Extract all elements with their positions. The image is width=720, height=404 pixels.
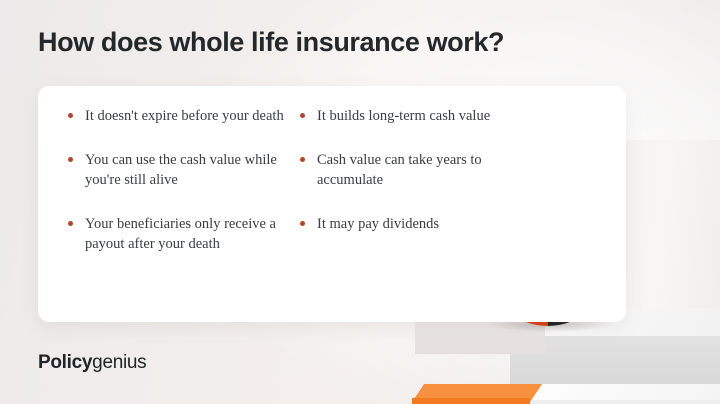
list-item-label: You can use the cash value while you're …: [85, 152, 277, 189]
bullet-dot-icon: [300, 157, 305, 162]
left-bullet-list: It doesn't expire before your death You …: [66, 106, 298, 255]
list-item-label: Cash value can take years to accumulate: [317, 152, 482, 189]
list-item: It doesn't expire before your death: [66, 106, 298, 127]
slide-canvas: How does whole life insurance work? It d…: [0, 0, 720, 404]
list-item-label: It doesn't expire before your death: [85, 108, 284, 124]
list-item: It may pay dividends: [298, 214, 508, 235]
brand-logo: Policygenius: [38, 352, 146, 374]
left-column: It doesn't expire before your death You …: [66, 106, 298, 322]
list-item: It builds long-term cash value: [298, 106, 508, 127]
list-item-label: It may pay dividends: [317, 216, 439, 232]
content-card: It doesn't expire before your death You …: [38, 86, 626, 322]
list-item: Your beneficiaries only receive a payout…: [66, 214, 298, 255]
list-item: You can use the cash value while you're …: [66, 150, 298, 191]
bullet-dot-icon: [300, 221, 305, 226]
bullet-columns: It doesn't expire before your death You …: [38, 86, 626, 322]
bullet-dot-icon: [300, 113, 305, 118]
list-item-label: Your beneficiaries only receive a payout…: [85, 216, 276, 253]
brand-name-light: genius: [92, 352, 146, 373]
brand-name-bold: Policy: [38, 352, 92, 373]
page-title: How does whole life insurance work?: [38, 27, 504, 58]
list-item: Cash value can take years to accumulate: [298, 150, 508, 191]
bullet-dot-icon: [68, 113, 73, 118]
right-column: It builds long-term cash value Cash valu…: [298, 106, 508, 322]
list-item-label: It builds long-term cash value: [317, 108, 490, 124]
white-slab-front-face: [520, 400, 720, 404]
orange-slab-front-face: [412, 398, 530, 404]
bullet-dot-icon: [68, 157, 73, 162]
right-bullet-list: It builds long-term cash value Cash valu…: [298, 106, 508, 234]
bullet-dot-icon: [68, 221, 73, 226]
